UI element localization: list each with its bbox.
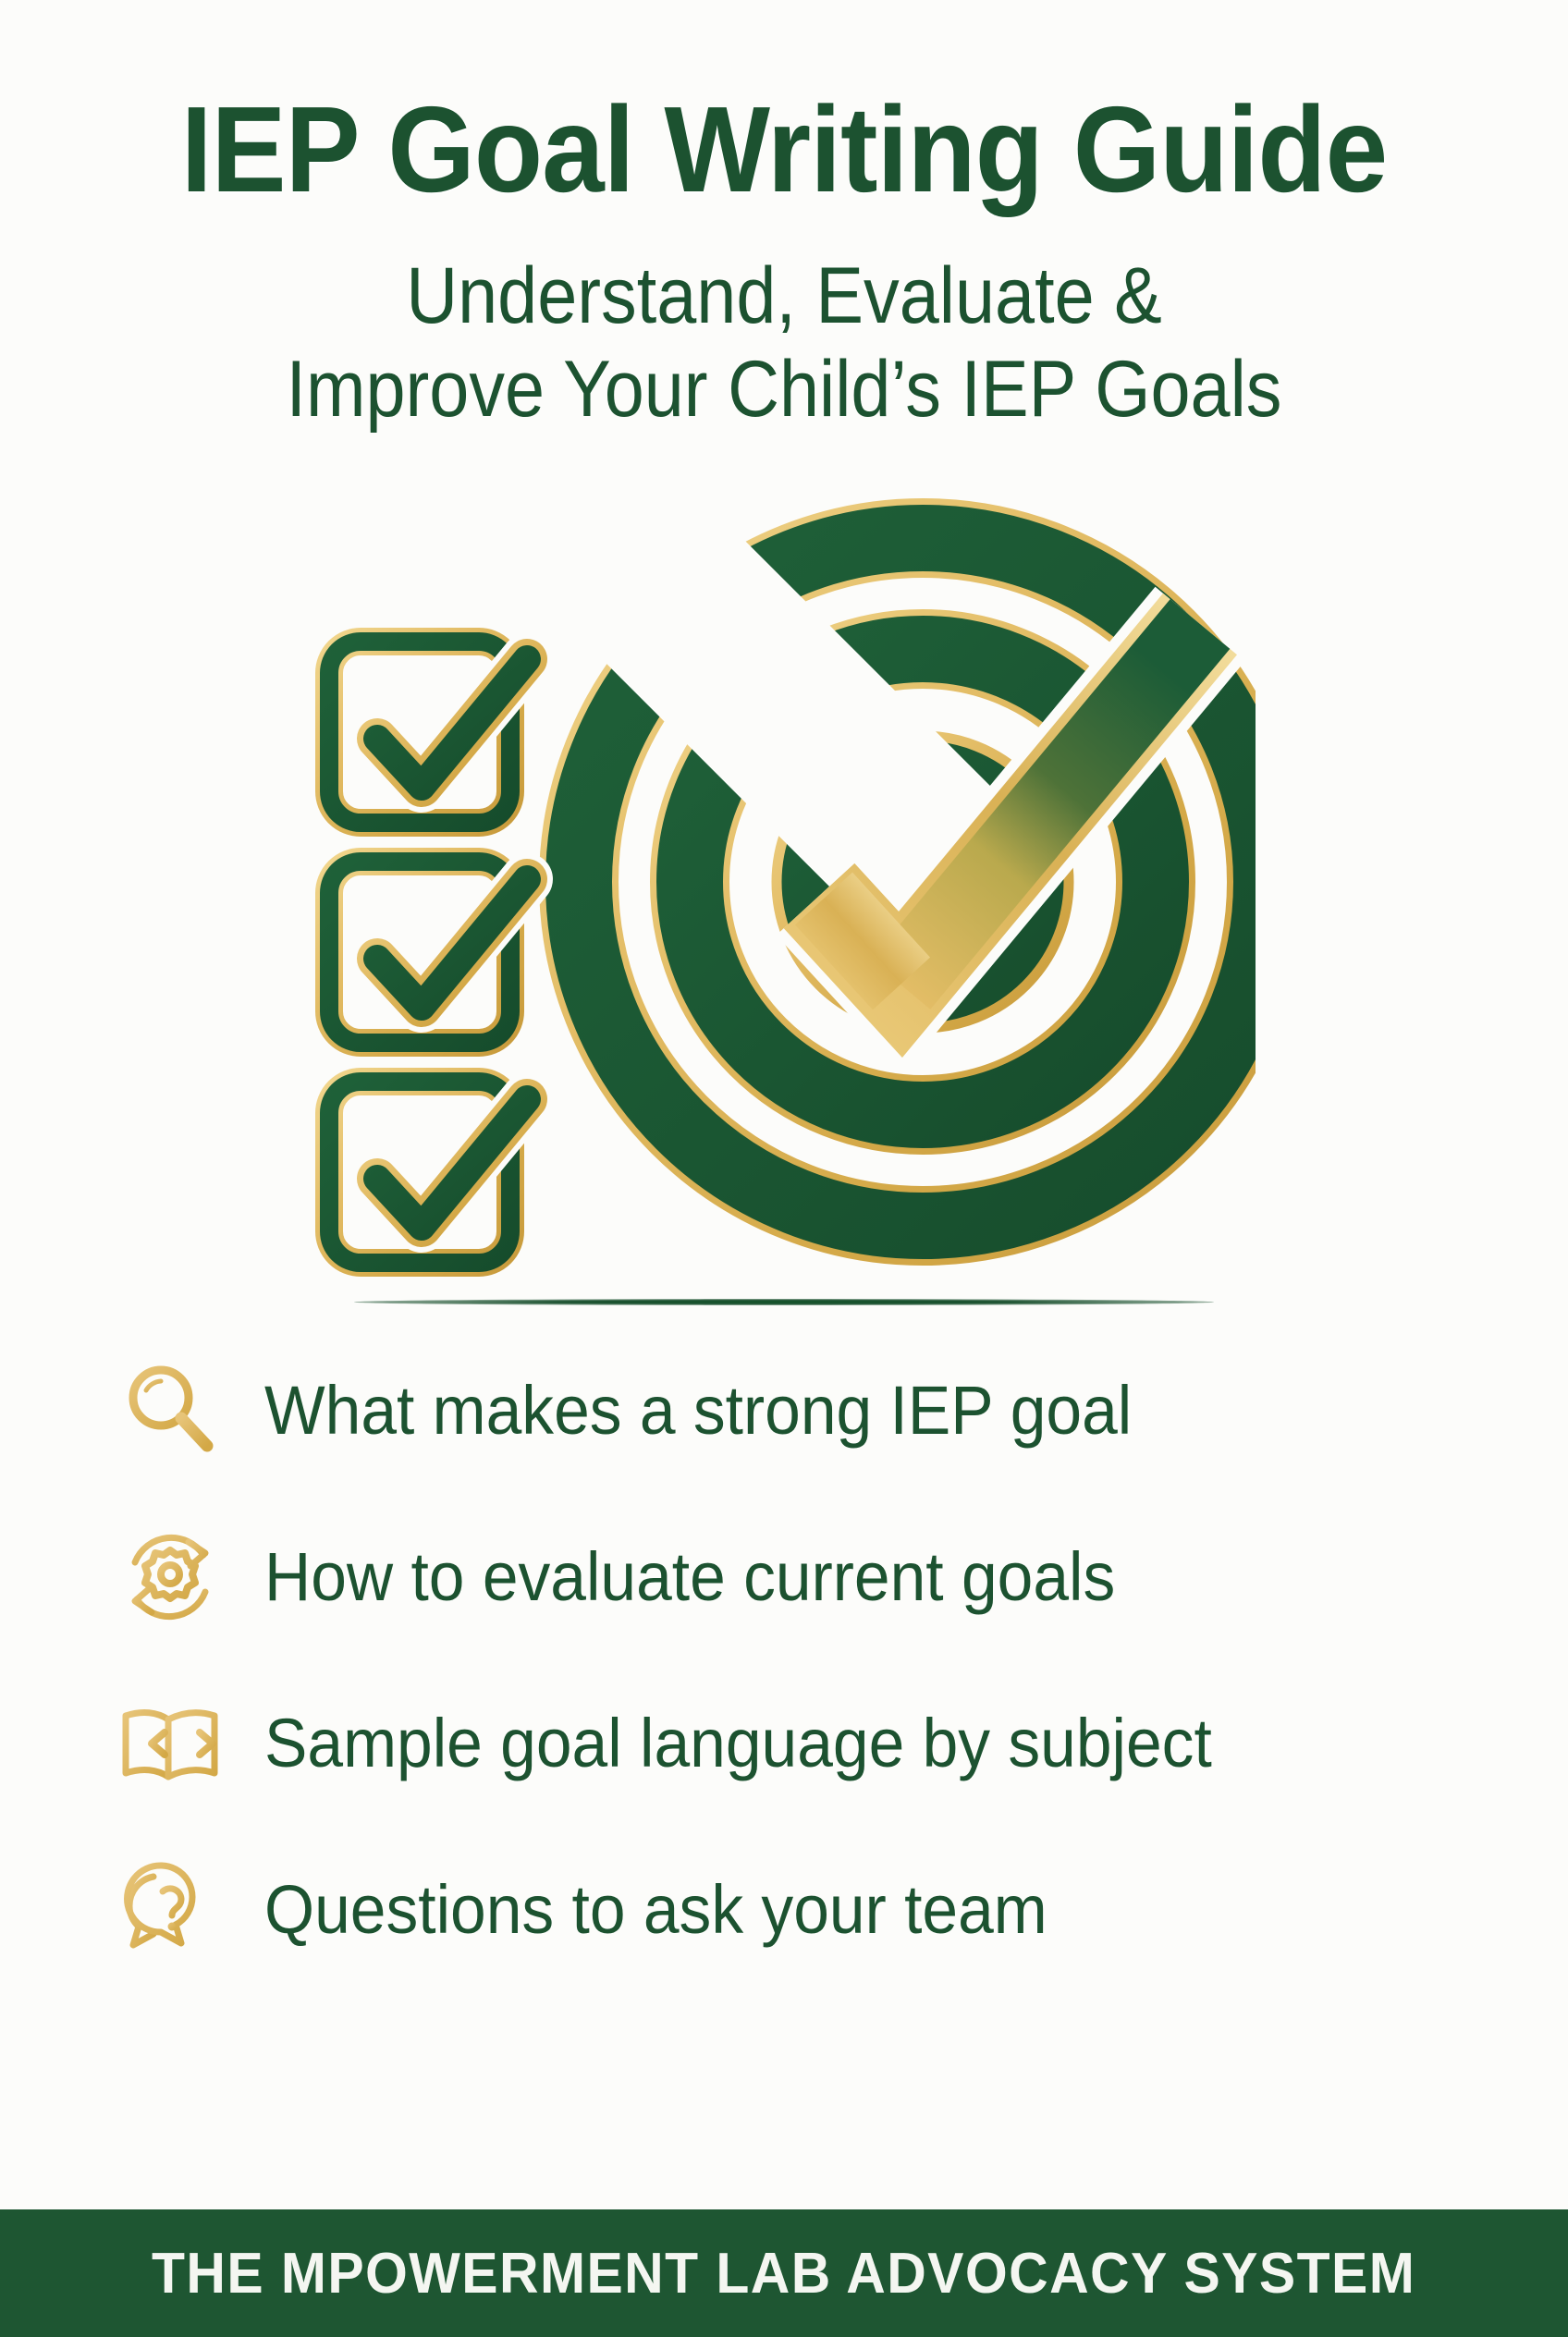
subtitle-line-1: Understand, Evaluate & [129, 250, 1439, 343]
cover-page: IEP Goal Writing Guide Understand, Evalu… [0, 0, 1568, 2337]
feature-row: What makes a strong IEP goal [109, 1337, 1503, 1485]
page-title: IEP Goal Writing Guide [114, 89, 1454, 211]
checkbox-list [329, 642, 527, 1263]
feature-list: What makes a strong IEP goal [0, 1337, 1568, 1984]
feature-row: Sample goal language by subject [109, 1670, 1503, 1817]
header: IEP Goal Writing Guide Understand, Evalu… [0, 0, 1568, 437]
feature-label: Sample goal language by subject [264, 1707, 1212, 1780]
feature-label: How to evaluate current goals [264, 1541, 1115, 1613]
checkbox-item [329, 642, 527, 823]
question-speech-bubble-icon [109, 1849, 231, 1971]
footer-brand-text: THE MPOWERMENT LAB ADVOCACY SYSTEM [152, 2241, 1415, 2306]
footer-bar: THE MPOWERMENT LAB ADVOCACY SYSTEM [0, 2209, 1568, 2337]
subtitle-line-2: Improve Your Child’s IEP Goals [129, 343, 1439, 436]
divider-wrap [0, 1299, 1568, 1305]
target-checklist-icon [312, 461, 1256, 1293]
checkbox-item [329, 1082, 527, 1263]
open-book-arrow-icon [109, 1682, 231, 1805]
feature-label: Questions to ask your team [264, 1874, 1047, 1946]
feature-label: What makes a strong IEP goal [264, 1375, 1132, 1447]
section-divider [354, 1299, 1214, 1305]
checkbox-item [329, 862, 527, 1043]
feature-row: Questions to ask your team [109, 1836, 1503, 1984]
feature-row: How to evaluate current goals [109, 1503, 1503, 1651]
page-subtitle: Understand, Evaluate & Improve Your Chil… [129, 250, 1439, 437]
gear-refresh-icon [109, 1516, 231, 1638]
hero-illustration [0, 461, 1568, 1293]
magnifier-icon [109, 1350, 231, 1472]
